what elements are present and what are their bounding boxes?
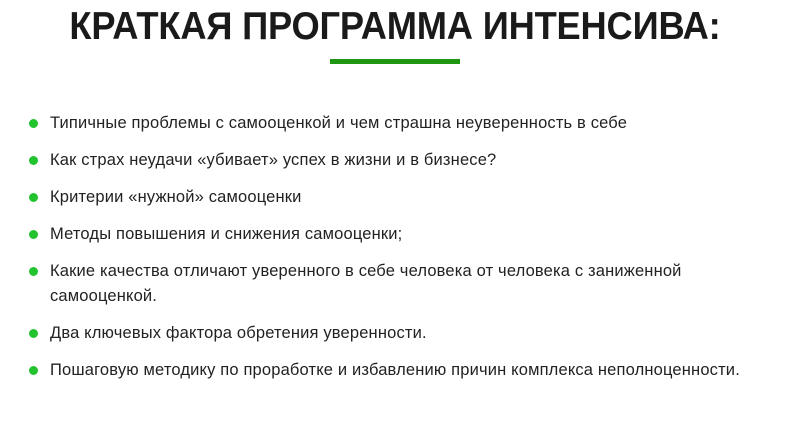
list-item: Типичные проблемы с самооценкой и чем ст… <box>0 111 790 136</box>
bullet-dot-icon <box>29 230 38 239</box>
title-underline-divider <box>330 59 460 64</box>
header: КРАТКАЯ ПРОГРАММА ИНТЕНСИВА: <box>0 0 790 64</box>
list-item-label: Критерии «нужной» самооценки <box>50 185 750 210</box>
program-list: Типичные проблемы с самооценкой и чем ст… <box>0 111 790 383</box>
bullet-dot-icon <box>29 193 38 202</box>
bullet-dot-icon <box>29 156 38 165</box>
list-item: Какие качества отличают уверенного в себ… <box>0 259 790 309</box>
list-item: Как страх неудачи «убивает» успех в жизн… <box>0 148 790 173</box>
list-item-label: Два ключевых фактора обретения увереннос… <box>50 321 750 346</box>
list-item: Пошаговую методику по проработке и избав… <box>0 358 790 383</box>
list-item-label: Какие качества отличают уверенного в себ… <box>50 259 750 309</box>
bullet-dot-icon <box>29 267 38 276</box>
slide-root: КРАТКАЯ ПРОГРАММА ИНТЕНСИВА: Типичные пр… <box>0 0 790 438</box>
list-item: Критерии «нужной» самооценки <box>0 185 790 210</box>
list-item-label: Типичные проблемы с самооценкой и чем ст… <box>50 111 750 136</box>
list-item-label: Методы повышения и снижения самооценки; <box>50 222 750 247</box>
list-item: Методы повышения и снижения самооценки; <box>0 222 790 247</box>
page-title: КРАТКАЯ ПРОГРАММА ИНТЕНСИВА: <box>28 6 763 48</box>
bullet-dot-icon <box>29 366 38 375</box>
bullet-dot-icon <box>29 119 38 128</box>
bullet-dot-icon <box>29 329 38 338</box>
list-item-label: Как страх неудачи «убивает» успех в жизн… <box>50 148 750 173</box>
list-item: Два ключевых фактора обретения увереннос… <box>0 321 790 346</box>
list-item-label: Пошаговую методику по проработке и избав… <box>50 358 750 383</box>
